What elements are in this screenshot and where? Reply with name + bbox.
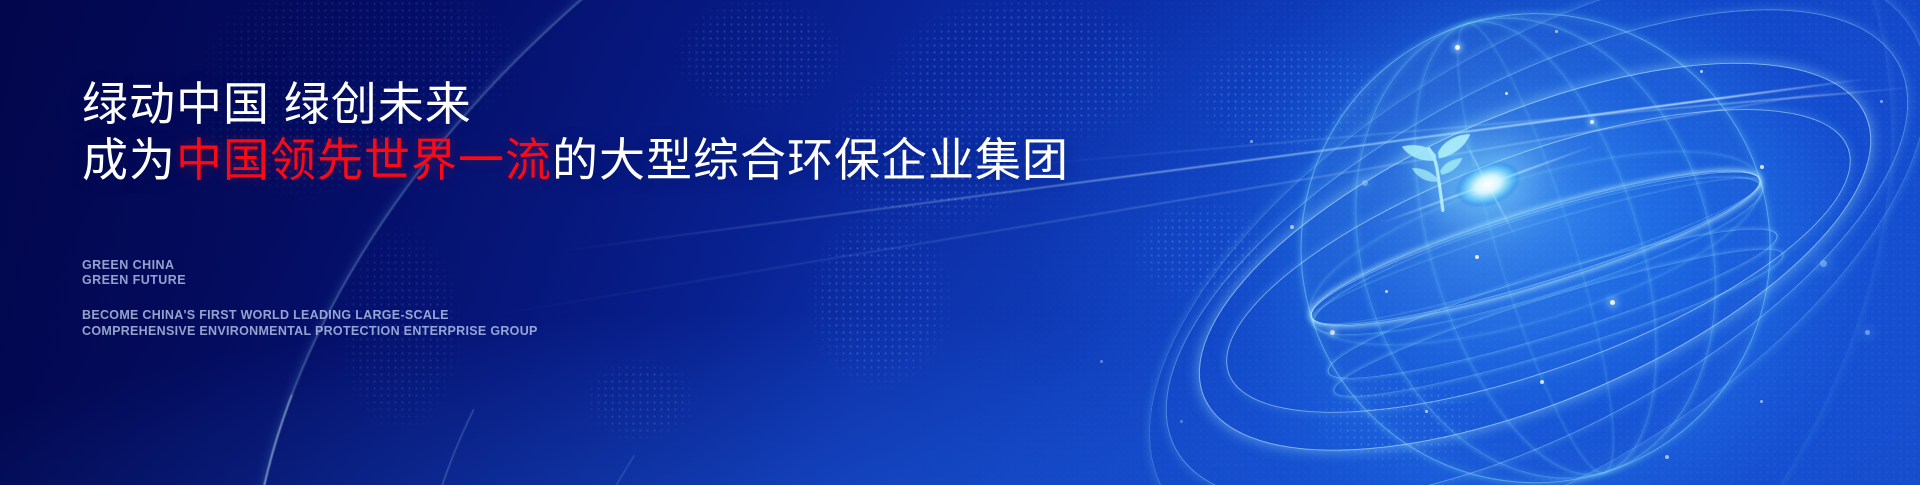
mission-line-1: BECOME CHINA'S FIRST WORLD LEADING LARGE… [82, 308, 538, 324]
headline-highlight: 中国领先世界一流 [176, 134, 552, 186]
mission-statement: BECOME CHINA'S FIRST WORLD LEADING LARGE… [82, 308, 538, 339]
headline-line-2: 成为中国领先世界一流的大型综合环保企业集团 [82, 134, 1069, 186]
headline-suffix: 的大型综合环保企业集团 [552, 134, 1069, 186]
copy-block: 绿动中国 绿创未来 成为中国领先世界一流的大型综合环保企业集团 GREEN CH… [82, 0, 1142, 485]
wireframe-globe [1173, 0, 1920, 485]
hero-banner: 绿动中国 绿创未来 成为中国领先世界一流的大型综合环保企业集团 GREEN CH… [0, 0, 1920, 485]
headline-line-1: 绿动中国 绿创未来 [82, 78, 472, 130]
mission-line-2: COMPREHENSIVE ENVIRONMENTAL PROTECTION E… [82, 324, 538, 340]
sprout-leaf-icon [1389, 119, 1491, 221]
headline-prefix: 成为 [82, 134, 176, 186]
tagline-line-1: GREEN CHINA [82, 258, 186, 273]
tagline: GREEN CHINA GREEN FUTURE [82, 258, 186, 288]
tagline-line-2: GREEN FUTURE [82, 273, 186, 288]
